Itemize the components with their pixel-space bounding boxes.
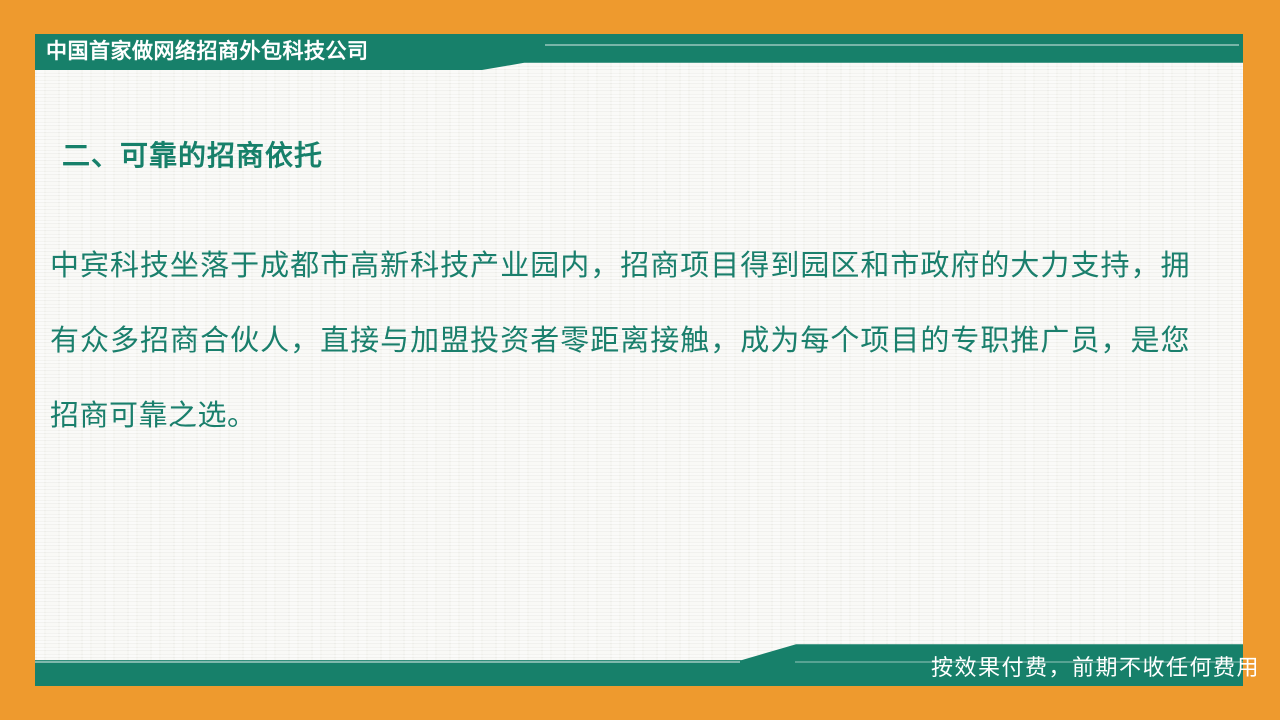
section-heading: 二、可靠的招商依托: [62, 134, 323, 174]
header-title: 中国首家做网络招商外包科技公司: [46, 36, 369, 66]
footer-tagline: 按效果付费，前期不收任何费用: [931, 650, 1260, 682]
footer-hairline-left: [35, 661, 740, 663]
body-paragraph: 中宾科技坐落于成都市高新科技产业园内，招商项目得到园区和市政府的大力支持，拥有众…: [50, 228, 1190, 453]
header-hairline-divider: [545, 44, 1239, 46]
presentation-slide: 中国首家做网络招商外包科技公司 二、可靠的招商依托 中宾科技坐落于成都市高新科技…: [0, 0, 1280, 720]
